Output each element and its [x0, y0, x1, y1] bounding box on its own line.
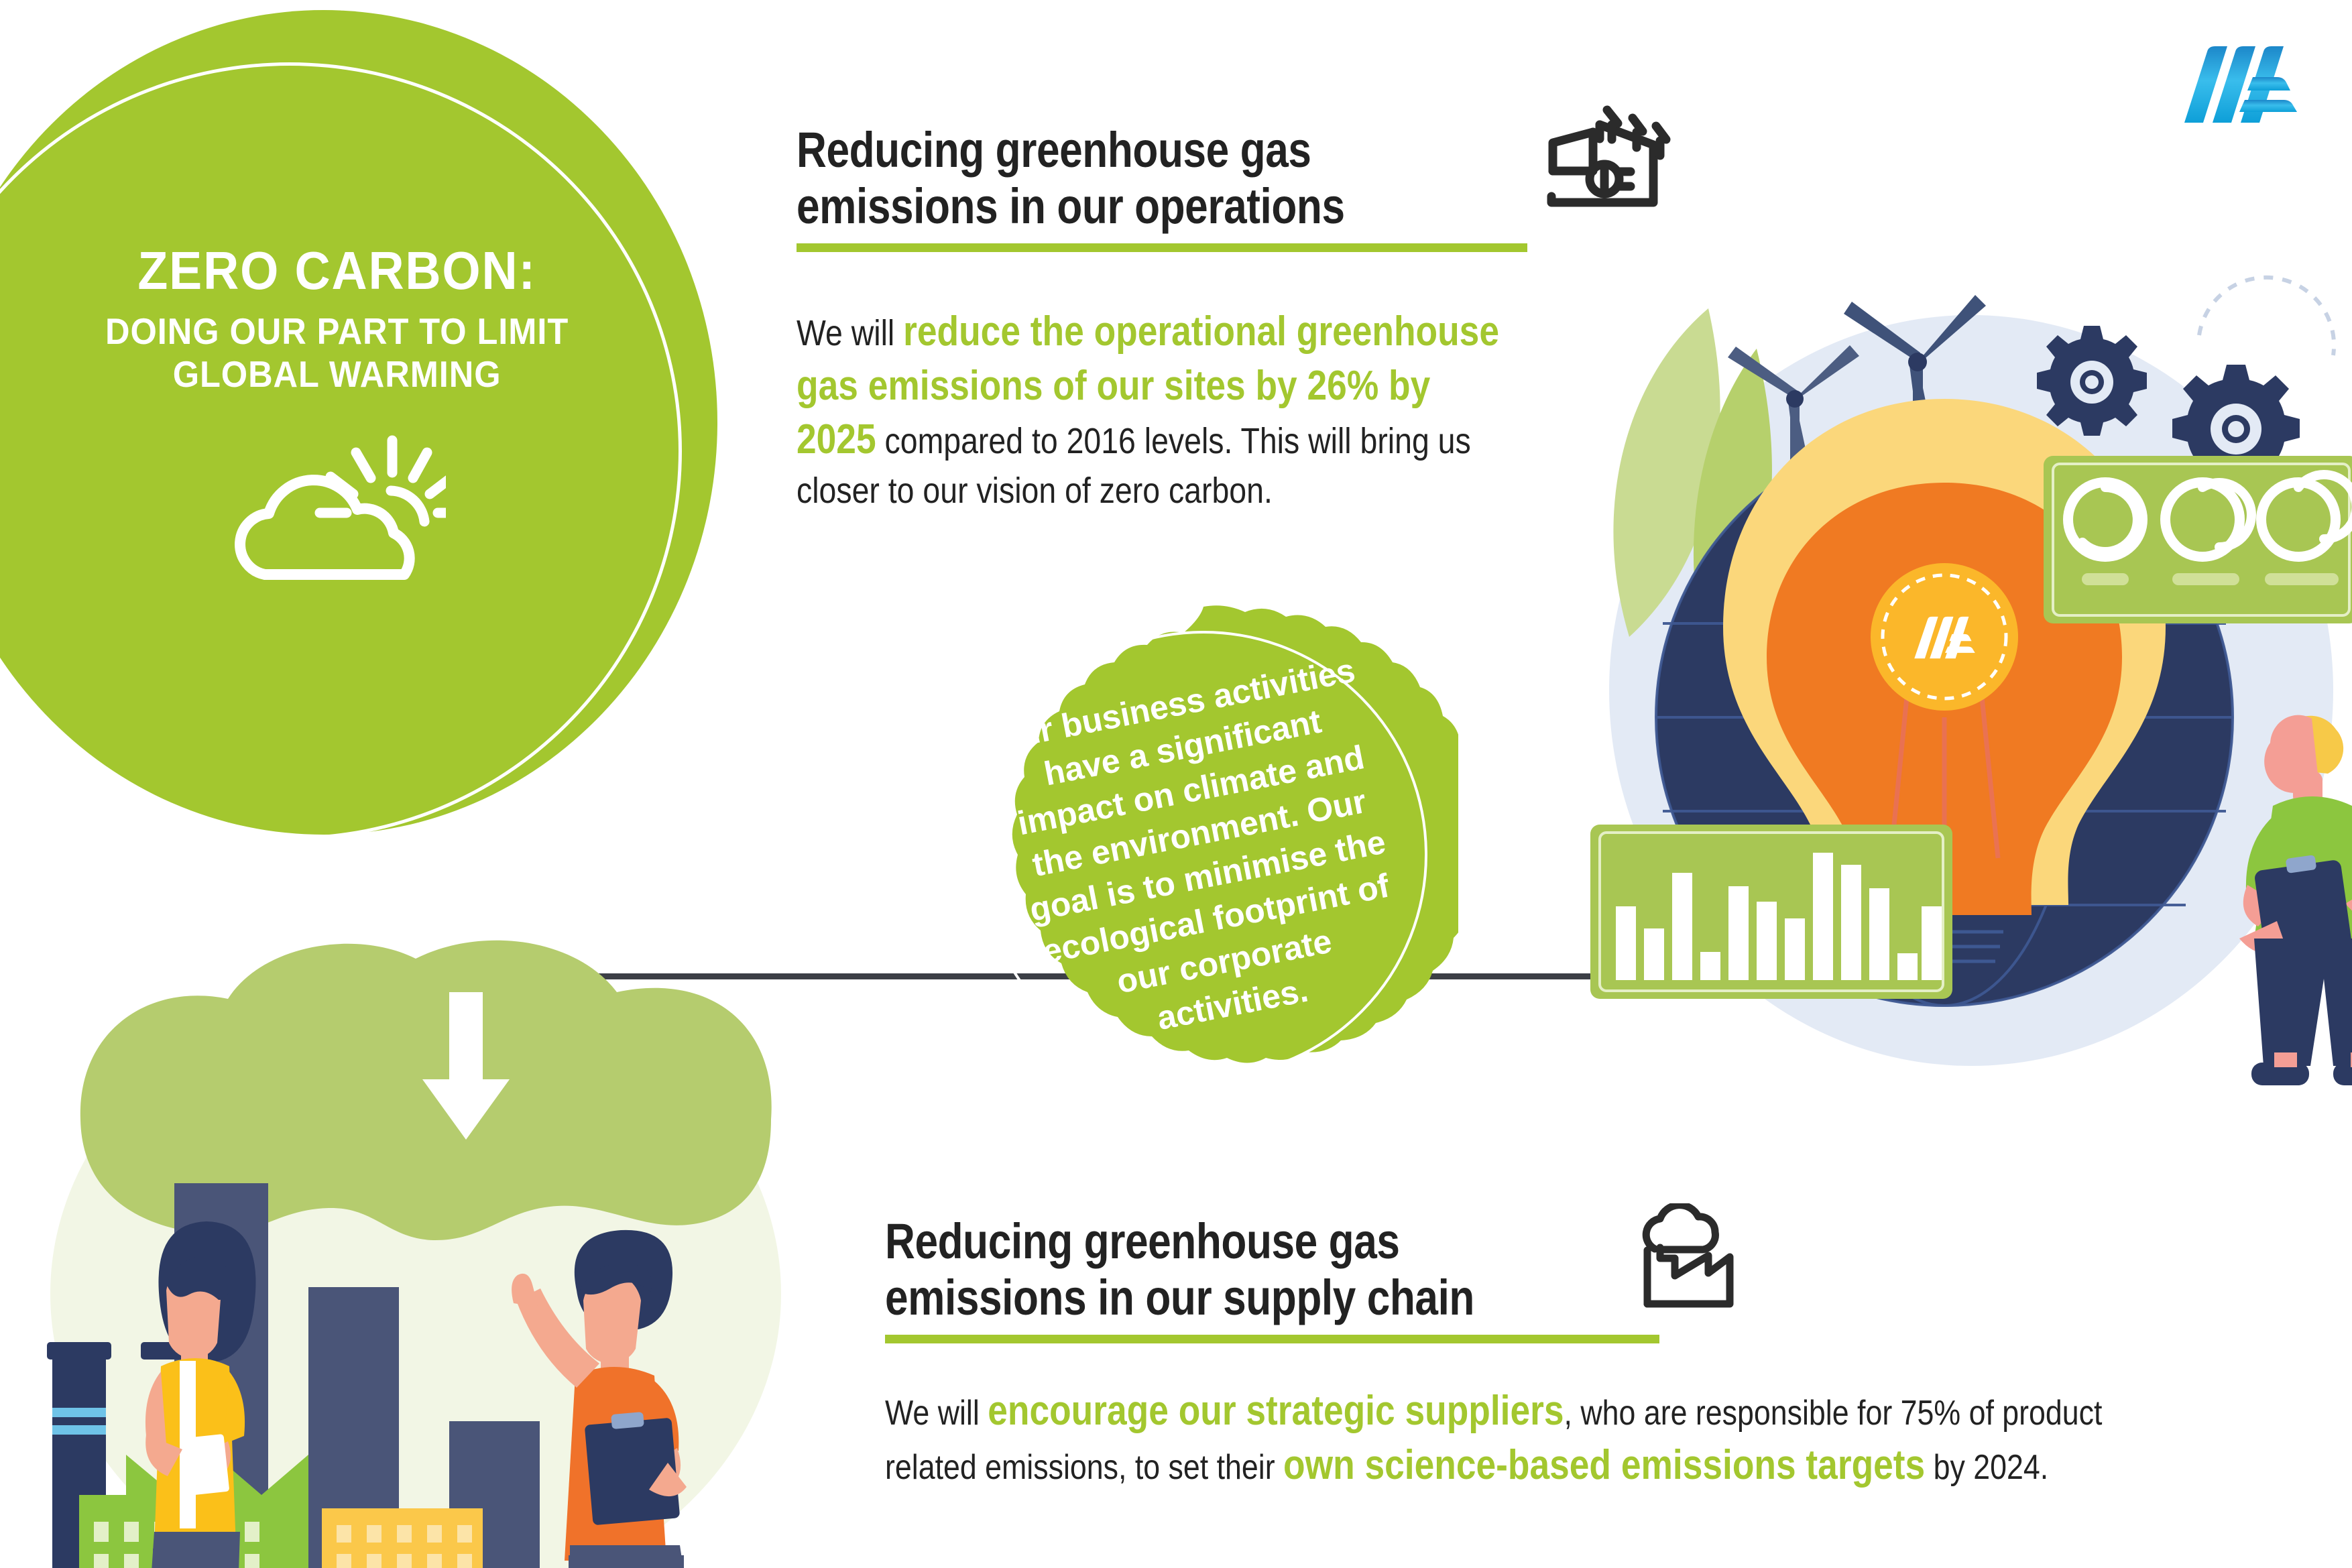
supply-chain-heading: Reducing greenhouse gas emissions in our…	[885, 1213, 1673, 1325]
globe-lightbulb-illustration	[1542, 261, 2352, 1126]
operations-heading-rule	[797, 243, 1527, 252]
bar-chart-panel	[1590, 825, 1952, 999]
factory-plug-icon	[1529, 101, 1696, 225]
yellow-building	[322, 1508, 483, 1568]
infographic-canvas: ZERO CARBON: DOING OUR PART TO LIMIT GLO…	[0, 0, 2352, 1568]
dashed-arc	[2199, 278, 2334, 355]
aldi-logo	[2166, 37, 2306, 127]
gauge-label-bar	[2082, 573, 2339, 585]
cloud-sun-icon	[202, 434, 446, 588]
supply-chain-heading-rule	[885, 1335, 1659, 1343]
supply-chain-highlight-2: own science-based emissions targets	[1283, 1442, 1925, 1488]
hero-zero-carbon-circle: ZERO CARBON: DOING OUR PART TO LIMIT GLO…	[0, 10, 717, 835]
progress-ring	[2063, 477, 2148, 562]
city-emissions-illustration	[40, 918, 838, 1568]
supply-chain-body-lead: We will	[885, 1394, 988, 1433]
operations-heading: Reducing greenhouse gas emissions in our…	[797, 122, 1529, 234]
trousers	[2254, 939, 2352, 1066]
quote-badge-text-wrap: Our business activities have a significa…	[949, 600, 1458, 1109]
paper	[182, 1434, 230, 1496]
shoe	[2333, 1063, 2352, 1085]
hero-text-block: ZERO CARBON: DOING OUR PART TO LIMIT GLO…	[58, 243, 589, 396]
factory-smoke-icon	[1623, 1203, 1737, 1311]
quote-badge: Our business activities have a significa…	[949, 600, 1458, 1109]
quote-badge-text: Our business activities have a significa…	[986, 648, 1421, 1061]
hero-subtitle-line-2: GLOBAL WARMING	[105, 353, 569, 396]
supply-chain-body-tail: by 2024.	[1925, 1448, 2048, 1487]
supply-chain-body: We will encourage our strategic supplier…	[885, 1384, 2131, 1492]
supply-chain-highlight-1: encourage our strategic suppliers	[988, 1388, 1564, 1434]
operations-body-lead: We will	[797, 313, 903, 353]
hero-title: ZERO CARBON:	[105, 243, 569, 298]
operations-body: We will reduce the operational greenhous…	[797, 305, 1506, 514]
trousers	[569, 1555, 684, 1568]
gear-icon	[2037, 326, 2147, 436]
operations-body-tail: compared to 2016 levels. This will bring…	[797, 421, 1471, 511]
gauge-panel	[2044, 456, 2352, 623]
trousers	[153, 1549, 239, 1568]
hero-subtitle-line-1: DOING OUR PART TO LIMIT	[105, 310, 569, 353]
